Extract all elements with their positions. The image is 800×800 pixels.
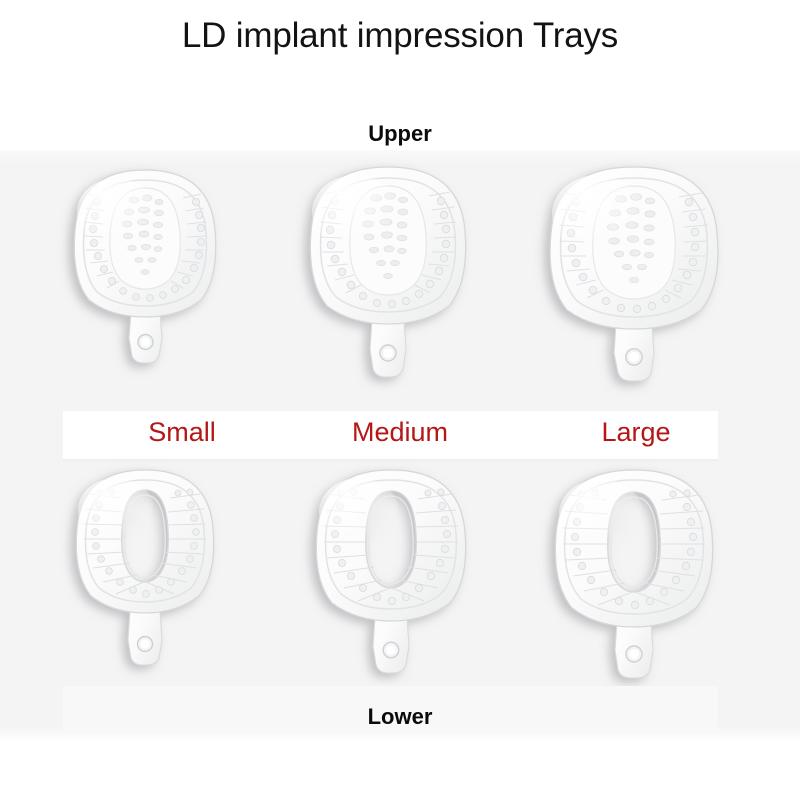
- section-heading-lower: Lower: [0, 704, 800, 730]
- size-label-large: Large: [546, 417, 726, 448]
- tray-lower-large: [535, 462, 755, 702]
- size-label-small: Small: [92, 417, 272, 448]
- tray-lower-small: [58, 462, 258, 692]
- tray-upper-medium: [290, 157, 505, 417]
- size-label-medium: Medium: [310, 417, 490, 448]
- section-heading-upper: Upper: [0, 121, 800, 147]
- page-title: LD implant impression Trays: [0, 16, 800, 56]
- product-image-canvas: LD implant impression Trays Upper: [0, 0, 800, 800]
- tray-upper-small: [55, 160, 255, 410]
- tray-lower-medium: [297, 462, 507, 697]
- tray-upper-large: [528, 157, 758, 422]
